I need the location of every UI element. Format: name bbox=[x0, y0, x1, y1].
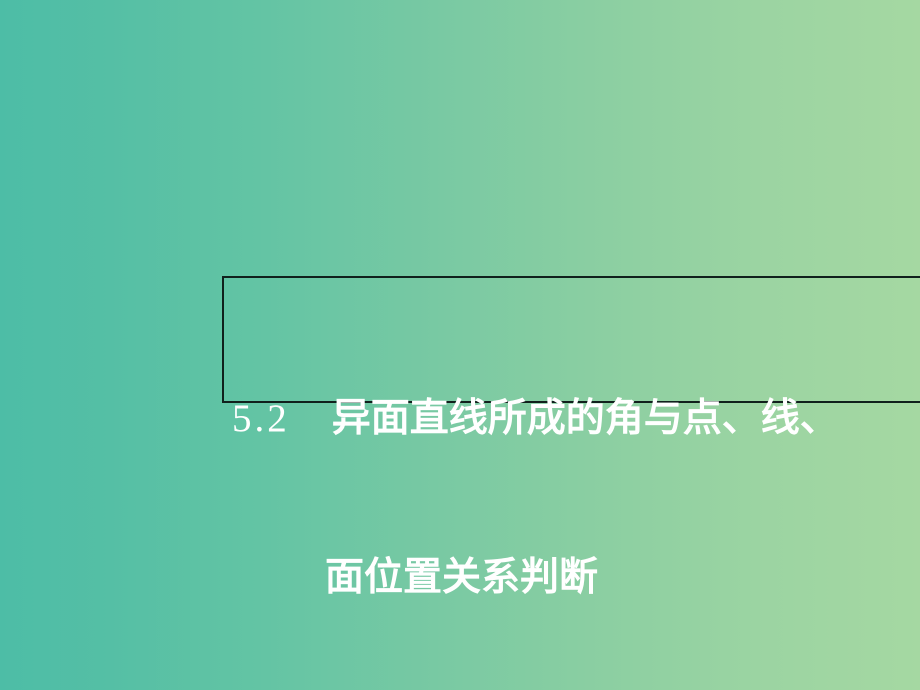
title-line-1: 5.2异面直线所成的角与点、线、 bbox=[232, 392, 920, 445]
title-line-2-indent bbox=[232, 556, 283, 599]
section-number: 5.2 bbox=[232, 397, 290, 440]
title-line-2: 面位置关系判断 bbox=[232, 551, 920, 604]
title-line-2-text: 面位置关系判断 bbox=[325, 556, 598, 599]
slide-canvas: 5.2异面直线所成的角与点、线、 面位置关系判断 bbox=[0, 0, 920, 690]
page-title: 5.2异面直线所成的角与点、线、 面位置关系判断 bbox=[232, 286, 920, 690]
title-line-1-text: 异面直线所成的角与点、线、 bbox=[332, 397, 839, 440]
title-textbox[interactable]: 5.2异面直线所成的角与点、线、 面位置关系判断 bbox=[222, 276, 920, 403]
